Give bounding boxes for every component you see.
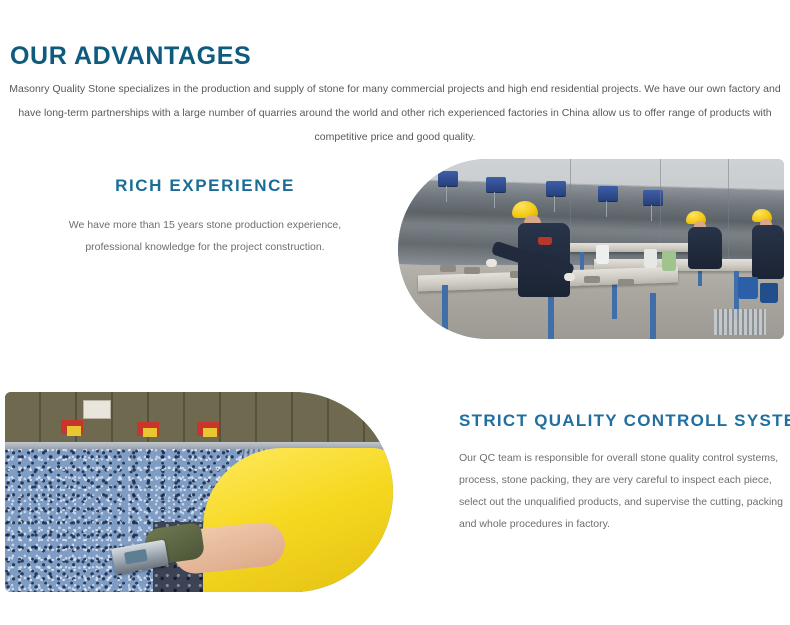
strict-quality-body: Our QC team is responsible for overall s… bbox=[459, 447, 787, 535]
stone-piece bbox=[618, 279, 634, 286]
bench-legs bbox=[442, 285, 448, 339]
wall-reel-icon bbox=[438, 171, 458, 186]
quality-control-photo bbox=[5, 392, 393, 592]
wall-reel-icon bbox=[486, 177, 506, 192]
yellow-sign bbox=[143, 428, 157, 437]
yellow-sign bbox=[203, 428, 217, 437]
green-container bbox=[662, 251, 676, 271]
red-object bbox=[538, 237, 552, 245]
factory-scene bbox=[398, 159, 784, 339]
wall-column bbox=[660, 159, 661, 269]
white-container bbox=[596, 245, 609, 264]
section-strict-quality-controll-system: STRICT QUALITY CONTROLL SYSTEM Our QC te… bbox=[459, 411, 787, 546]
stone-piece bbox=[440, 265, 456, 272]
page-title: OUR ADVANTAGES bbox=[10, 42, 251, 71]
blue-paint-bucket bbox=[760, 283, 778, 303]
strict-quality-title: STRICT QUALITY CONTROLL SYSTEM bbox=[459, 411, 787, 431]
rich-experience-title: RICH EXPERIENCE bbox=[20, 176, 390, 196]
wall-sign bbox=[83, 400, 111, 419]
factory-photo bbox=[398, 159, 784, 339]
stone-piece bbox=[464, 267, 480, 274]
intro-paragraph: Masonry Quality Stone specializes in the… bbox=[8, 77, 782, 149]
wall-reel-icon bbox=[598, 186, 618, 201]
factory-worker-foreground bbox=[510, 201, 596, 311]
wall-reel-icon bbox=[546, 181, 566, 196]
white-container bbox=[644, 249, 657, 268]
worker-glove bbox=[564, 273, 575, 281]
worker-body bbox=[752, 225, 784, 279]
utility-cart bbox=[714, 309, 766, 335]
factory-worker-background bbox=[752, 209, 784, 275]
rich-experience-body: We have more than 15 years stone product… bbox=[20, 214, 390, 258]
warehouse-wall bbox=[5, 392, 393, 444]
bench-legs bbox=[650, 293, 656, 339]
blue-paint-bucket bbox=[738, 277, 758, 299]
section-rich-experience: RICH EXPERIENCE We have more than 15 yea… bbox=[20, 176, 390, 269]
factory-worker-background bbox=[686, 211, 734, 269]
yellow-sign bbox=[67, 426, 81, 436]
worker-body bbox=[688, 227, 722, 269]
inspector-yellow-shirt bbox=[203, 448, 393, 592]
worker-glove bbox=[486, 259, 497, 267]
